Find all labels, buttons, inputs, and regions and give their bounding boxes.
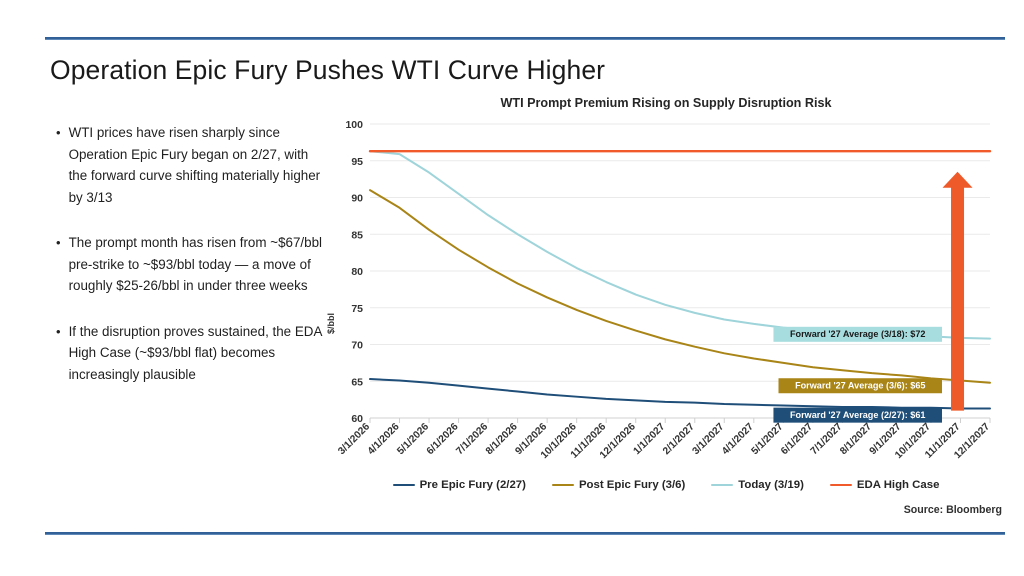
slide-canvas: Operation Epic Fury Pushes WTI Curve Hig… xyxy=(0,0,1024,576)
line-chart-plot: 60657075808590951003/1/20264/1/20265/1/2… xyxy=(330,96,1002,496)
annotation-label: Forward '27 Average (3/6): $65 xyxy=(795,381,925,391)
chart-container: WTI Prompt Premium Rising on Supply Disr… xyxy=(330,96,1002,516)
source-note: Source: Bloomberg xyxy=(0,504,1002,516)
annotation-label: Forward '27 Average (2/27): $61 xyxy=(790,410,925,420)
y-axis-tick-label: 90 xyxy=(351,193,363,205)
bullet-marker-icon: • xyxy=(56,321,61,386)
series-line-post-epic-fury-3-6 xyxy=(370,190,990,383)
legend-swatch-icon xyxy=(711,484,733,487)
bullet-text: The prompt month has risen from ~$67/bbl… xyxy=(69,232,328,297)
chart-legend: Pre Epic Fury (2/27)Post Epic Fury (3/6)… xyxy=(330,479,1002,491)
bullet-text: If the disruption proves sustained, the … xyxy=(69,321,328,386)
list-item: • The prompt month has risen from ~$67/b… xyxy=(56,232,328,297)
legend-swatch-icon xyxy=(393,484,415,487)
legend-swatch-icon xyxy=(830,484,852,487)
legend-item[interactable]: EDA High Case xyxy=(830,479,940,491)
forward-27-average-today: Forward '27 Average (3/18): $72 xyxy=(773,327,942,342)
series-line-today-3-19 xyxy=(370,151,990,338)
bullet-marker-icon: • xyxy=(56,232,61,297)
list-item: • WTI prices have risen sharply since Op… xyxy=(56,122,328,208)
y-axis-tick-label: 85 xyxy=(351,229,363,241)
legend-label: Pre Epic Fury (2/27) xyxy=(420,479,526,491)
y-axis-label: $/bbl xyxy=(326,313,336,334)
chart-title: WTI Prompt Premium Rising on Supply Disr… xyxy=(330,96,1002,110)
y-axis-tick-label: 100 xyxy=(345,119,363,131)
legend-label: EDA High Case xyxy=(857,479,940,491)
bottom-divider-rule xyxy=(45,532,1005,535)
upward-trend-arrow xyxy=(943,172,973,411)
annotation-label: Forward '27 Average (3/18): $72 xyxy=(790,329,925,339)
y-axis-tick-label: 95 xyxy=(351,156,363,168)
y-axis-tick-label: 70 xyxy=(351,340,363,352)
y-axis-tick-label: 65 xyxy=(351,376,363,388)
bullet-list: • WTI prices have risen sharply since Op… xyxy=(56,122,328,409)
y-axis-tick-label: 75 xyxy=(351,303,363,315)
list-item: • If the disruption proves sustained, th… xyxy=(56,321,328,386)
y-axis-tick-label: 80 xyxy=(351,266,363,278)
legend-item[interactable]: Pre Epic Fury (2/27) xyxy=(393,479,526,491)
bullet-text: WTI prices have risen sharply since Oper… xyxy=(69,122,328,208)
forward-27-average-post: Forward '27 Average (3/6): $65 xyxy=(779,378,943,393)
legend-label: Post Epic Fury (3/6) xyxy=(579,479,685,491)
legend-label: Today (3/19) xyxy=(738,479,804,491)
bullet-marker-icon: • xyxy=(56,122,61,208)
page-title: Operation Epic Fury Pushes WTI Curve Hig… xyxy=(50,55,605,86)
forward-27-average-pre: Forward '27 Average (2/27): $61 xyxy=(773,408,942,423)
legend-item[interactable]: Today (3/19) xyxy=(711,479,804,491)
top-divider-rule xyxy=(45,37,1005,40)
legend-swatch-icon xyxy=(552,484,574,487)
legend-item[interactable]: Post Epic Fury (3/6) xyxy=(552,479,685,491)
